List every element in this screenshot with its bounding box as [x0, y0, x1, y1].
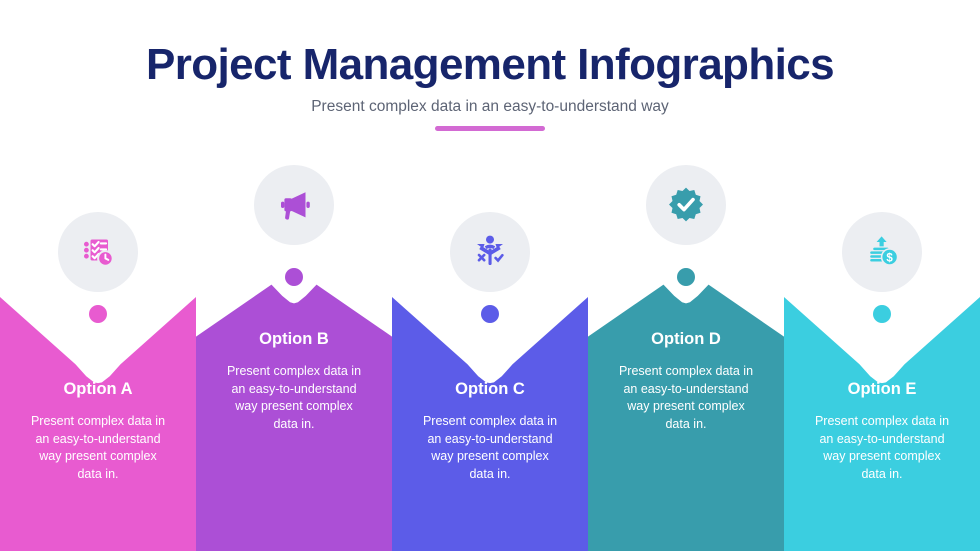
infographic-canvas: Project Management Infographics Present … [0, 0, 980, 551]
money-growth-icon: $ [864, 234, 900, 270]
svg-text:$: $ [886, 252, 893, 264]
column-text-b: Option B Present complex data in an easy… [210, 328, 378, 433]
option-label-b: Option B [210, 328, 378, 350]
icon-circle-b[interactable] [254, 165, 334, 245]
column-text-c: Option C Present complex data in an easy… [406, 378, 574, 483]
megaphone-icon [275, 186, 313, 224]
column-dot-b [285, 268, 303, 286]
option-column-c[interactable]: Option C Present complex data in an easy… [392, 150, 588, 551]
icon-circle-d[interactable] [646, 165, 726, 245]
column-text-d: Option D Present complex data in an easy… [602, 328, 770, 433]
icon-circle-c[interactable] [450, 212, 530, 292]
option-column-d[interactable]: Option D Present complex data in an easy… [588, 150, 784, 551]
option-description-d: Present complex data in an easy-to-under… [602, 363, 770, 433]
icon-circle-e[interactable]: $ [842, 212, 922, 292]
option-description-b: Present complex data in an easy-to-under… [210, 363, 378, 433]
verified-badge-icon [667, 186, 705, 224]
column-text-e: Option E Present complex data in an easy… [798, 378, 966, 483]
header: Project Management Infographics Present … [0, 0, 980, 150]
accent-bar [435, 126, 545, 131]
option-column-a[interactable]: Option A Present complex data in an easy… [0, 150, 196, 551]
page-subtitle: Present complex data in an easy-to-under… [0, 96, 980, 118]
decision-arrows-icon [471, 233, 509, 271]
checklist-clock-icon [80, 234, 116, 270]
option-description-a: Present complex data in an easy-to-under… [14, 413, 182, 483]
option-label-e: Option E [798, 378, 966, 400]
column-dot-a [89, 305, 107, 323]
option-description-e: Present complex data in an easy-to-under… [798, 413, 966, 483]
page-title: Project Management Infographics [0, 39, 980, 91]
option-description-c: Present complex data in an easy-to-under… [406, 413, 574, 483]
option-label-c: Option C [406, 378, 574, 400]
option-column-e[interactable]: $ Option E Present complex data in an ea… [784, 150, 980, 551]
option-label-d: Option D [602, 328, 770, 350]
column-text-a: Option A Present complex data in an easy… [14, 378, 182, 483]
option-label-a: Option A [14, 378, 182, 400]
option-columns: Option A Present complex data in an easy… [0, 150, 980, 551]
column-dot-c [481, 305, 499, 323]
column-dot-e [873, 305, 891, 323]
icon-circle-a[interactable] [58, 212, 138, 292]
option-column-b[interactable]: Option B Present complex data in an easy… [196, 150, 392, 551]
column-dot-d [677, 268, 695, 286]
